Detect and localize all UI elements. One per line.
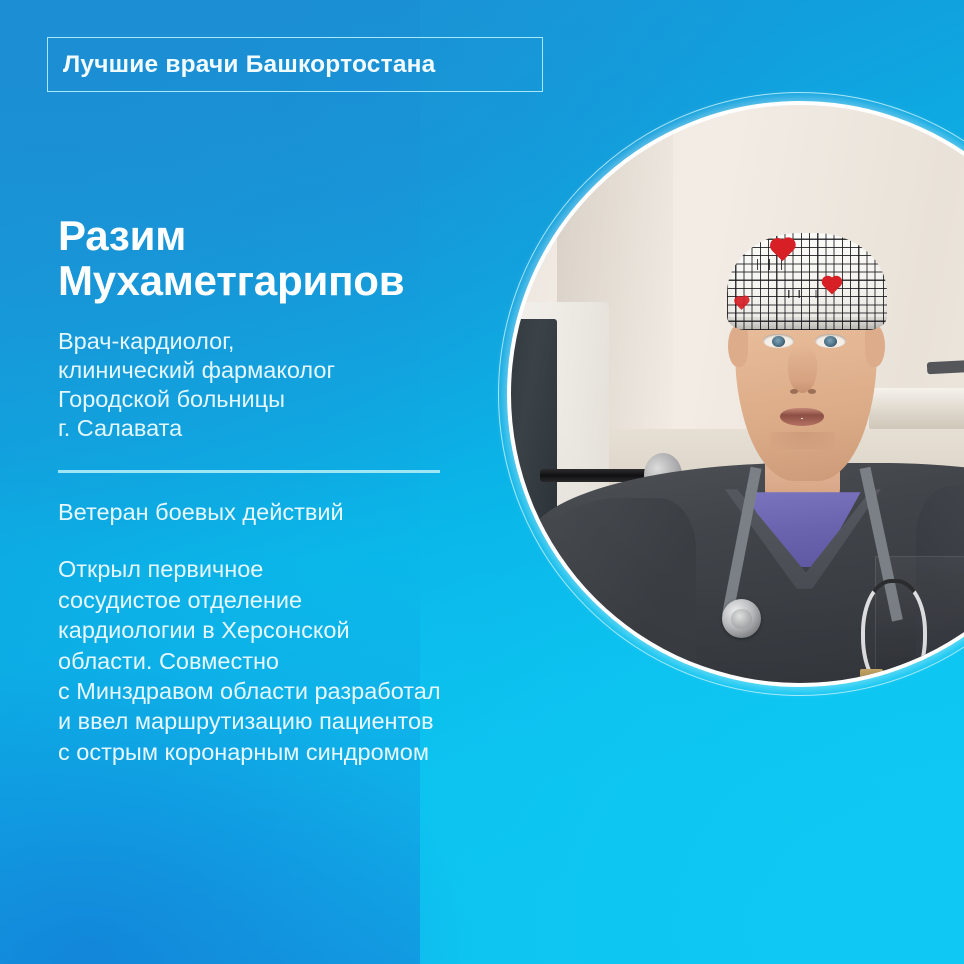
undershirt-sleeve-left <box>528 631 615 683</box>
section-divider <box>58 470 440 473</box>
stethoscope-eartip-right <box>918 667 941 682</box>
doctor-info-column: Разим Мухаметгарипов Врач-кардиолог, кли… <box>58 214 568 767</box>
cap-heart-icon <box>735 297 748 310</box>
poster-card: Лучшие врачи Башкортостана Разим Мухамет… <box>0 0 964 964</box>
chin-shadow <box>771 432 835 449</box>
nostril-left <box>790 389 799 394</box>
surgical-cap <box>727 233 887 330</box>
series-badge: Лучшие врачи Башкортостана <box>47 37 543 92</box>
nostril-right <box>808 389 817 394</box>
iris-left <box>772 336 785 347</box>
iris-right <box>824 336 837 347</box>
cap-ecg-line-1 <box>753 259 804 271</box>
doctor-photo-frame <box>511 105 964 683</box>
cap-ecg-line-2 <box>788 290 833 299</box>
room-counter <box>869 388 964 428</box>
doctor-name-line-1: Разим <box>58 214 568 259</box>
doctor-bio: Открыл первичное сосудистое отделение ка… <box>58 554 563 767</box>
stethoscope-eartip-left <box>860 669 883 683</box>
cap-band <box>727 317 887 331</box>
series-badge-label: Лучшие врачи Башкортостана <box>48 51 436 79</box>
doctor-role: Врач-кардиолог, клинический фармаколог Г… <box>58 327 568 443</box>
ear-left <box>728 325 748 368</box>
ear-right <box>865 325 885 368</box>
doctor-name: Разим Мухаметгарипов <box>58 214 568 304</box>
doctor-photo <box>511 105 964 683</box>
veteran-status: Ветеран боевых действий <box>58 498 568 527</box>
monitor-screen <box>511 319 557 527</box>
stethoscope-earpiece-loop <box>861 579 927 683</box>
doctor-name-line-2: Мухаметгарипов <box>58 259 568 304</box>
